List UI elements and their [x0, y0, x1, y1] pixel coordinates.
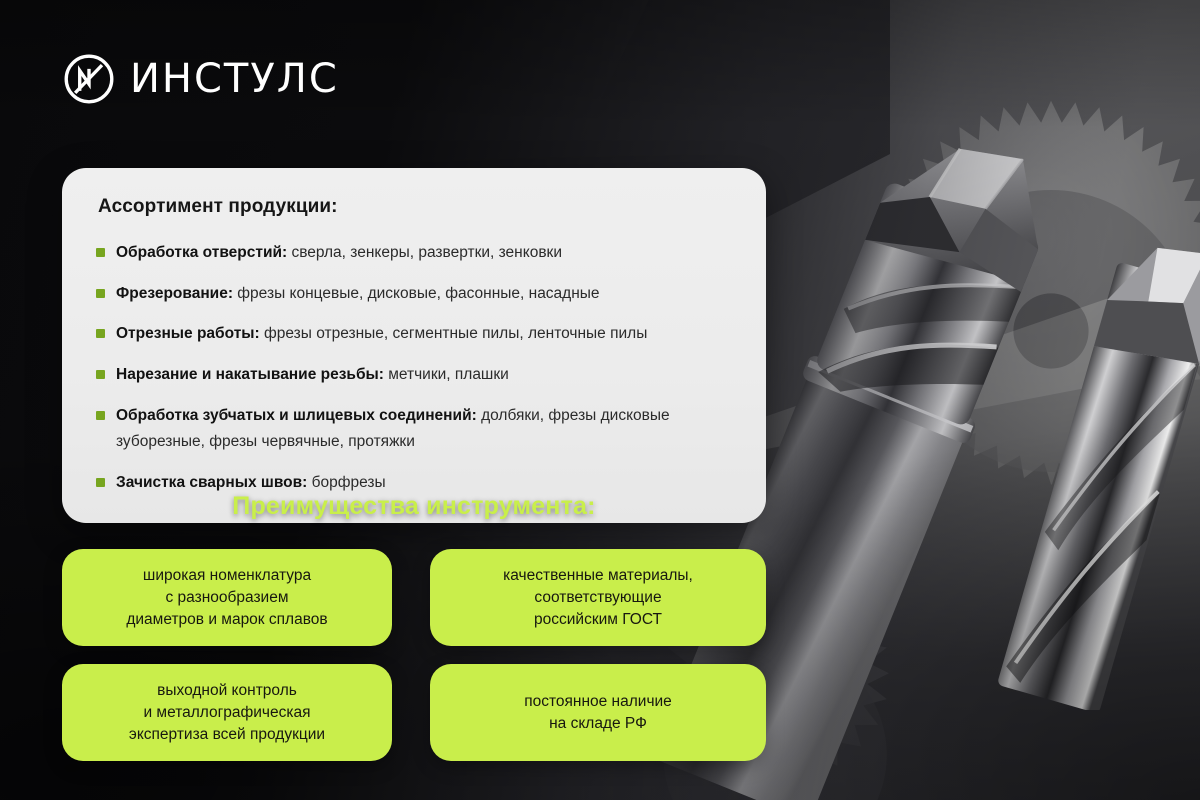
assortment-category-label: Обработка зубчатых и шлицевых соединений…	[116, 407, 477, 424]
assortment-card: Ассортимент продукции: Обработка отверст…	[62, 168, 766, 523]
square-bullet-icon	[96, 248, 105, 257]
advantages-grid: широкая номенклатурас разнообразиемдиаме…	[62, 549, 766, 761]
square-bullet-icon	[96, 329, 105, 338]
assortment-list-item: Обработка зубчатых и шлицевых соединений…	[96, 403, 732, 456]
square-bullet-icon	[96, 370, 105, 379]
assortment-list-item-text: Обработка зубчатых и шлицевых соединений…	[116, 403, 732, 456]
assortment-list-item-text: Отрезные работы: фрезы отрезные, сегмент…	[116, 321, 647, 348]
assortment-list-item: Обработка отверстий: сверла, зенкеры, ра…	[96, 240, 732, 267]
brand-logo[interactable]: ИНСТУЛС	[62, 52, 339, 106]
assortment-list-item: Фрезерование: фрезы концевые, дисковые, …	[96, 281, 732, 308]
advantage-card[interactable]: качественные материалы,соответствующиеро…	[430, 549, 766, 646]
instools-circle-slash-logo-icon	[62, 52, 116, 106]
advantage-card[interactable]: постоянное наличиена складе РФ	[430, 664, 766, 761]
assortment-list-item-text: Фрезерование: фрезы концевые, дисковые, …	[116, 281, 600, 308]
square-bullet-icon	[96, 478, 105, 487]
assortment-list-item-text: Обработка отверстий: сверла, зенкеры, ра…	[116, 240, 562, 267]
advantage-card-text: качественные материалы,соответствующиеро…	[503, 565, 693, 631]
square-bullet-icon	[96, 289, 105, 298]
assortment-category-label: Отрезные работы:	[116, 325, 260, 342]
assortment-category-detail: фрезы отрезные, сегментные пилы, ленточн…	[260, 325, 648, 342]
assortment-list: Обработка отверстий: сверла, зенкеры, ра…	[96, 240, 732, 497]
assortment-list-item-text: Нарезание и накатывание резьбы: метчики,…	[116, 362, 509, 389]
advantage-card[interactable]: выходной контрольи металлографическаяэкс…	[62, 664, 392, 761]
advantage-card[interactable]: широкая номенклатурас разнообразиемдиаме…	[62, 549, 392, 646]
assortment-category-label: Фрезерование:	[116, 285, 233, 302]
brand-name: ИНСТУЛС	[130, 59, 339, 99]
assortment-category-label: Обработка отверстий:	[116, 244, 287, 261]
assortment-list-item: Нарезание и накатывание резьбы: метчики,…	[96, 362, 732, 389]
assortment-card-title: Ассортимент продукции:	[98, 196, 732, 218]
assortment-category-detail: метчики, плашки	[384, 366, 509, 383]
assortment-category-label: Нарезание и накатывание резьбы:	[116, 366, 384, 383]
advantage-card-text: выходной контрольи металлографическаяэкс…	[129, 680, 325, 746]
advantage-card-text: широкая номенклатурас разнообразиемдиаме…	[126, 565, 327, 631]
advantages-title: Преимущества инструмента:	[62, 492, 766, 521]
assortment-category-detail: сверла, зенкеры, развертки, зенковки	[287, 244, 562, 261]
assortment-category-detail: фрезы концевые, дисковые, фасонные, наса…	[233, 285, 600, 302]
promo-banner: ИНСТУЛС Ассортимент продукции: Обработка…	[0, 0, 1200, 800]
assortment-category-label: Зачистка сварных швов:	[116, 474, 307, 491]
square-bullet-icon	[96, 411, 105, 420]
assortment-list-item: Отрезные работы: фрезы отрезные, сегмент…	[96, 321, 732, 348]
assortment-category-detail: борфрезы	[307, 474, 385, 491]
advantage-card-text: постоянное наличиена складе РФ	[524, 691, 672, 735]
